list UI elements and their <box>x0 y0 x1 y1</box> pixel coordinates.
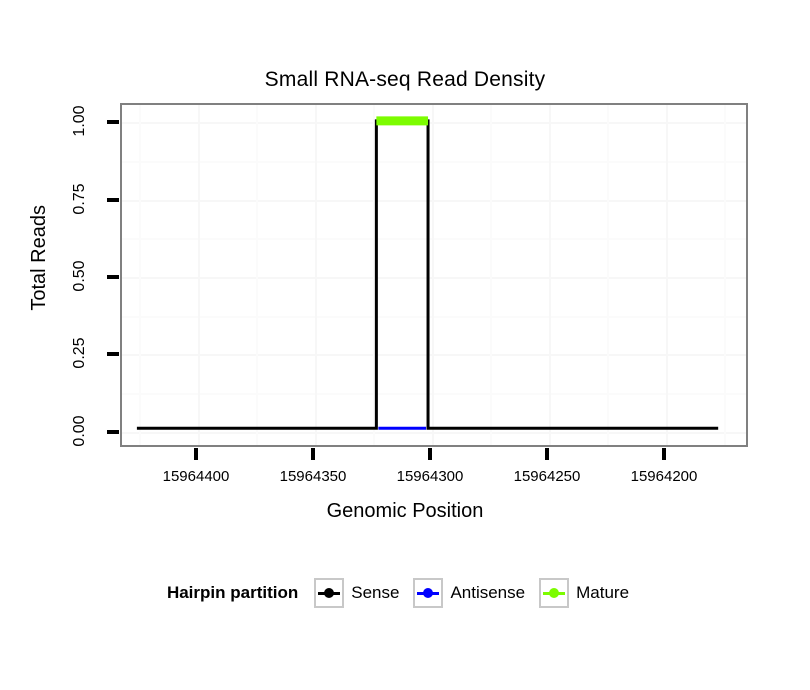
y-tick-label: 0.25 <box>71 330 89 376</box>
x-tick-label: 15964400 <box>136 468 256 485</box>
x-tick-mark <box>428 448 432 460</box>
x-tick-label: 15964350 <box>253 468 373 485</box>
y-tick-mark <box>107 430 119 434</box>
legend-key-mature-icon <box>539 578 569 608</box>
legend-item-antisense[interactable]: Antisense <box>413 578 525 608</box>
y-tick-mark <box>107 198 119 202</box>
y-tick-label: 0.75 <box>71 176 89 222</box>
legend-label-mature: Mature <box>576 583 629 603</box>
series-svg <box>122 105 746 445</box>
y-tick-mark <box>107 275 119 279</box>
legend-label-antisense: Antisense <box>450 583 525 603</box>
y-axis-title: Total Reads <box>28 205 51 311</box>
x-axis-title: Genomic Position <box>0 500 810 523</box>
legend-item-mature[interactable]: Mature <box>539 578 629 608</box>
chart-title: Small RNA-seq Read Density <box>0 68 810 92</box>
y-tick-mark <box>107 352 119 356</box>
y-tick-label: 0.50 <box>71 253 89 299</box>
x-tick-mark <box>545 448 549 460</box>
x-tick-label: 15964200 <box>604 468 724 485</box>
legend-label-sense: Sense <box>351 583 399 603</box>
x-tick-mark <box>194 448 198 460</box>
y-tick-label: 0.00 <box>71 408 89 454</box>
y-tick-label: 1.00 <box>71 98 89 144</box>
x-tick-mark <box>662 448 666 460</box>
chart-root: Small RNA-seq Read Density Total Reads 1… <box>0 0 810 690</box>
legend: Hairpin partition Sense Antisense Mature <box>0 578 810 608</box>
x-tick-mark <box>311 448 315 460</box>
legend-key-antisense-icon <box>413 578 443 608</box>
data-layer <box>122 105 746 445</box>
legend-item-sense[interactable]: Sense <box>314 578 399 608</box>
plot-panel <box>120 103 748 447</box>
legend-key-sense-icon <box>314 578 344 608</box>
series-line-sense <box>137 121 718 428</box>
y-tick-mark <box>107 120 119 124</box>
x-tick-label: 15964300 <box>370 468 490 485</box>
x-tick-label: 15964250 <box>487 468 607 485</box>
legend-title: Hairpin partition <box>167 583 298 603</box>
